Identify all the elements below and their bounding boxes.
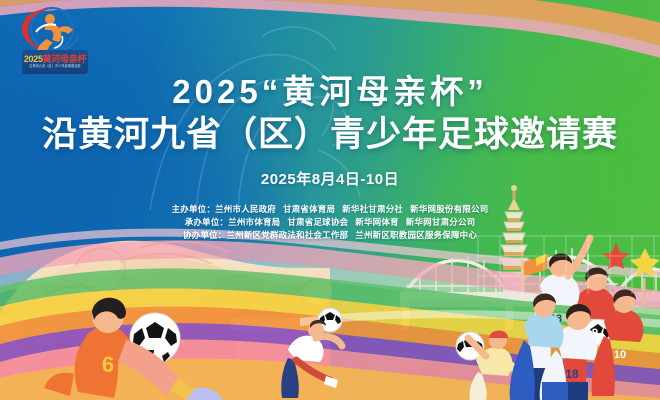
organizer-host-1: 甘肃省体育局	[283, 204, 335, 214]
svg-text:6: 6	[102, 352, 114, 377]
svg-text:18: 18	[565, 367, 579, 381]
svg-text:10: 10	[614, 349, 626, 361]
title-block: 2025“黄河母亲杯” 沿黄河九省（区）青少年足球邀请赛 2025年8月4日-1…	[0, 72, 660, 189]
logo-emblem	[14, 6, 90, 52]
logo-cup-name: 黄河母亲杯	[43, 54, 87, 64]
organizer-undertaker-2: 新华网体育	[355, 217, 399, 227]
title-line-1: 2025“黄河母亲杯”	[0, 72, 660, 112]
organizer-label-undertaker: 承办单位：	[185, 217, 229, 227]
event-date: 2025年8月4日-10日	[0, 168, 660, 189]
logo-wordmark: 2025黄河母亲杯 沿黄河九省（区）青少年足球邀请赛	[22, 50, 88, 74]
organizer-line-coorganizer: 协办单位：兰州新区党群政法和社会工作部兰州新区职教园区服务保障中心	[0, 229, 660, 242]
organizer-line-undertaker: 承办单位：兰州市体育局甘肃省足球协会新华网体育新华网甘肃分公司	[0, 216, 660, 229]
logo-year: 2025	[24, 54, 43, 64]
organizer-host-3: 新华网股份有限公司	[410, 204, 488, 214]
organizer-coorganizer-1: 兰州新区职教园区服务保障中心	[355, 230, 477, 240]
organizer-host-0: 兰州市人民政府	[215, 204, 276, 214]
background-illustration: 6	[0, 0, 660, 400]
organizer-block: 主办单位：兰州市人民政府甘肃省体育局新华社甘肃分社新华网股份有限公司 承办单位：…	[0, 203, 660, 242]
organizer-coorganizer-0: 兰州新区党群政法和社会工作部	[226, 230, 348, 240]
organizer-undertaker-0: 兰州市体育局	[228, 217, 280, 227]
title-line-2: 沿黄河九省（区）青少年足球邀请赛	[0, 112, 660, 158]
organizer-undertaker-3: 新华网甘肃分公司	[406, 217, 476, 227]
logo-subtitle: 沿黄河九省（区）青少年足球邀请赛	[29, 65, 80, 68]
organizer-host-2: 新华社甘肃分社	[342, 204, 403, 214]
organizer-label-host: 主办单位：	[172, 204, 216, 214]
organizer-line-host: 主办单位：兰州市人民政府甘肃省体育局新华社甘肃分社新华网股份有限公司	[0, 203, 660, 216]
poster-canvas: 6	[0, 0, 660, 400]
organizer-label-coorganizer: 协办单位：	[183, 230, 227, 240]
organizer-undertaker-1: 甘肃省足球协会	[287, 217, 348, 227]
